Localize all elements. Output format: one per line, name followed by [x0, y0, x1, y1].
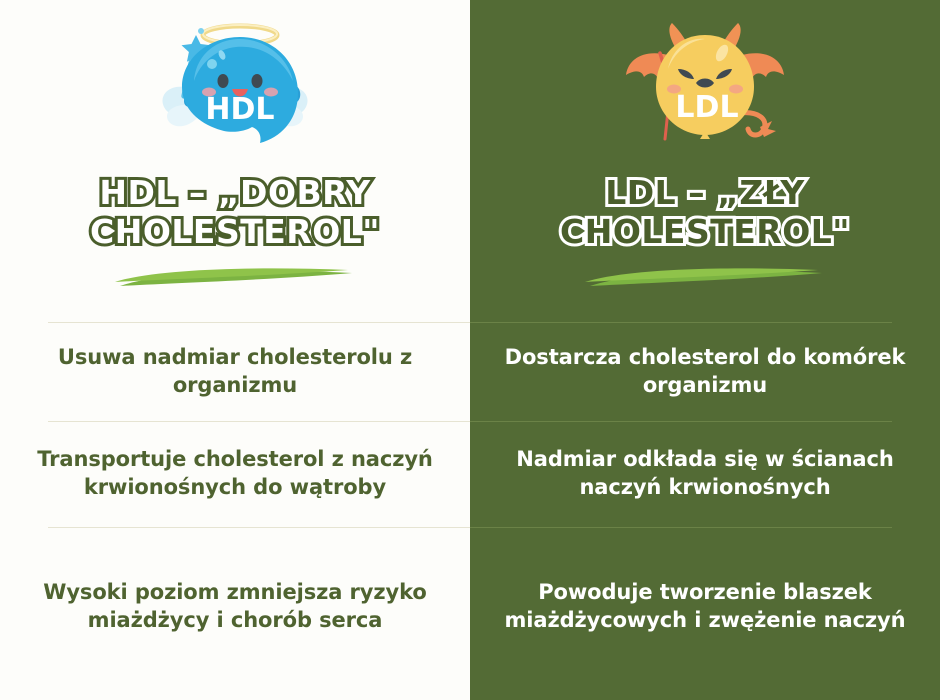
hdl-panel-title: HDL – „DOBRY CHOLESTEROL" — [24, 174, 446, 252]
hdl-facts-spacer — [0, 292, 470, 322]
hdl-fact-2: Transportuje cholesterol z naczyń krwion… — [0, 422, 470, 527]
hdl-title-line-1: HDL – „DOBRY — [24, 174, 446, 213]
ldl-title-line-2: CHOLESTEROL" — [494, 213, 916, 252]
ldl-fact-2: Nadmiar odkłada się w ścianach naczyń kr… — [470, 422, 940, 527]
ldl-panel-title: LDL – „ZŁY CHOLESTEROL" — [494, 174, 916, 252]
hdl-fact-1: Usuwa nadmiar cholesterolu z organizmu — [0, 323, 470, 421]
hdl-title-block: HDL – „DOBRY CHOLESTEROL" — [0, 174, 470, 252]
ldl-fact-3: Powoduje tworzenie blaszek miażdżycowych… — [470, 528, 940, 700]
hdl-fact-3: Wysoki poziom zmniejsza ryzyko miażdżycy… — [0, 528, 470, 700]
ldl-facts-list: Dostarcza cholesterol do komórek organiz… — [470, 292, 940, 700]
green-swoosh-underline-icon — [110, 266, 360, 292]
hdl-underline-swoosh — [110, 266, 360, 292]
hdl-angel-blob-mascot-icon: HDL — [140, 9, 330, 159]
hdl-mascot-container: HDL — [0, 0, 470, 160]
ldl-title-line-1: LDL – „ZŁY — [494, 174, 916, 213]
ldl-underline-swoosh — [580, 266, 830, 292]
hdl-badge-label: HDL — [205, 92, 274, 127]
ldl-title-block: LDL – „ZŁY CHOLESTEROL" — [470, 174, 940, 252]
hdl-facts-list: Usuwa nadmiar cholesterolu z organizmu T… — [0, 292, 470, 700]
hdl-title-line-2: CHOLESTEROL" — [24, 213, 446, 252]
green-swoosh-underline-icon — [580, 266, 830, 292]
ldl-fact-1: Dostarcza cholesterol do komórek organiz… — [470, 323, 940, 421]
ldl-panel: LDL LDL – „ZŁY CHOLESTEROL" Dostarcza ch… — [470, 0, 940, 700]
ldl-mascot-container: LDL — [470, 0, 940, 160]
ldl-facts-spacer — [470, 292, 940, 322]
ldl-devil-balloon-mascot-icon: LDL — [610, 9, 800, 159]
cholesterol-comparison-infographic: HDL HDL – „DOBRY CHOLESTEROL" Usuwa nadm… — [0, 0, 940, 700]
ldl-badge-label: LDL — [675, 90, 738, 125]
hdl-panel: HDL HDL – „DOBRY CHOLESTEROL" Usuwa nadm… — [0, 0, 470, 700]
